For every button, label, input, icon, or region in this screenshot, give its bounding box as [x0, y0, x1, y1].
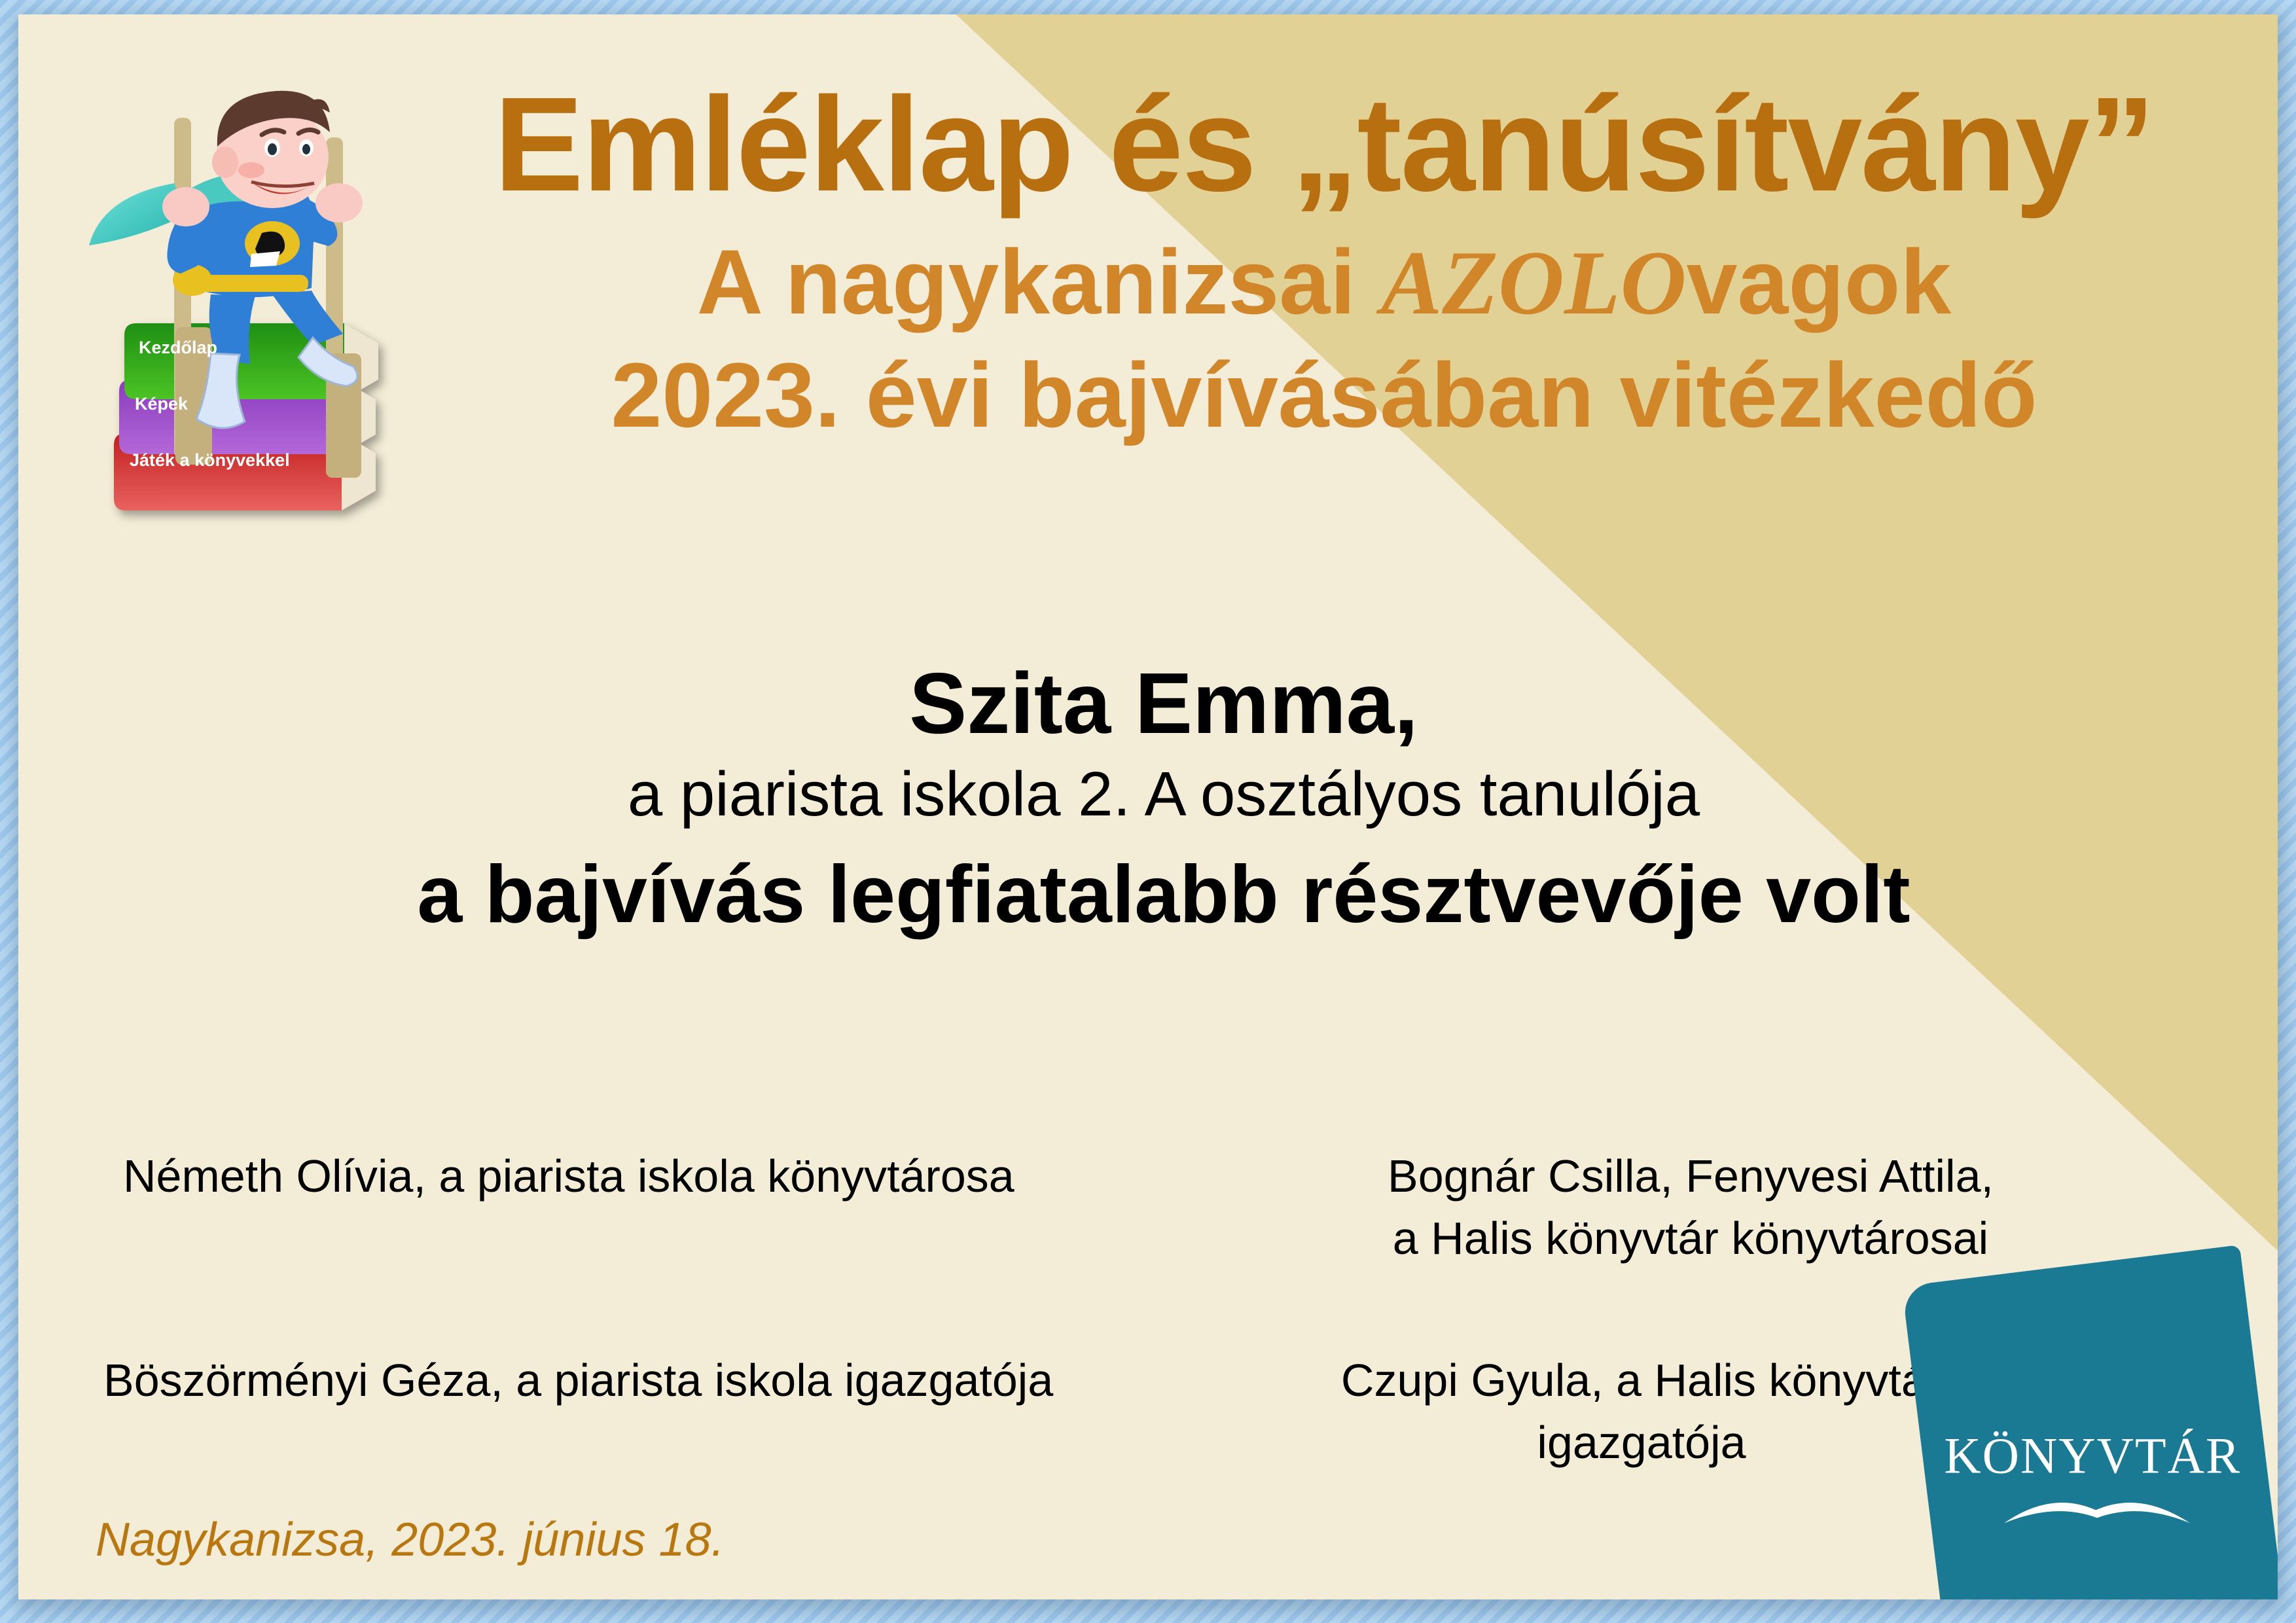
- library-logo-badge: KÖNYVTÁR: [1902, 1245, 2278, 1599]
- subtitle-line-2: 2023. évi bajvívásában vitézkedő: [385, 347, 2263, 443]
- signature-librarian-school: Németh Olívia, a piarista iskola könyvtá…: [123, 1145, 1039, 1207]
- book-label-kepek: Képek: [135, 394, 188, 414]
- signature-halis-librarians: Bognár Csilla, Fenyvesi Attila, a Halis …: [1298, 1145, 2083, 1269]
- book-label-kezdolap: Kezdőlap: [139, 338, 217, 357]
- subtitle-line-1: A nagykanizsai AZOLOvagok: [385, 234, 2263, 331]
- open-book-icon: [1999, 1485, 2195, 1532]
- certificate-page: Kezdőlap Képek Játék a könyvekkel Emlékl…: [0, 0, 2296, 1623]
- brand-name-azolo: AZOLO: [1381, 232, 1687, 334]
- page-title: Emléklap és „tanúsítvány”: [385, 77, 2263, 211]
- certificate-card: Kezdőlap Képek Játék a könyvekkel Emlékl…: [18, 14, 2278, 1599]
- library-logo-text: KÖNYVTÁR: [1927, 1430, 2267, 1481]
- library-logo-content: KÖNYVTÁR: [1927, 1430, 2267, 1532]
- book-label-jatek: Játék a könyvekkel: [130, 450, 290, 470]
- signature-halis-director: Czupi Gyula, a Halis könyvtár igazgatója: [1298, 1349, 1985, 1473]
- signature-halis-librarians-line2: a Halis könyvtár könyvtárosai: [1298, 1207, 2083, 1270]
- signature-principal-school: Böszörményi Géza, a piarista iskola igaz…: [103, 1349, 1085, 1412]
- subtitle-suffix: vagok: [1687, 230, 1952, 333]
- subtitle-prefix: A nagykanizsai: [697, 230, 1381, 333]
- signature-halis-director-line1: Czupi Gyula, a Halis könyvtár: [1298, 1349, 1985, 1412]
- title-block: Emléklap és „tanúsítvány” A nagykanizsai…: [385, 77, 2263, 443]
- signature-halis-director-line2: igazgatója: [1298, 1412, 1985, 1474]
- signature-halis-librarians-line1: Bognár Csilla, Fenyvesi Attila,: [1298, 1145, 2083, 1207]
- recipient-school: a piarista iskola 2. A osztályos tanulój…: [215, 758, 2113, 830]
- recipient-name: Szita Emma,: [215, 656, 2113, 751]
- recipient-block: Szita Emma, a piarista iskola 2. A osztá…: [215, 656, 2113, 941]
- date-and-place: Nagykanizsa, 2023. június 18.: [96, 1513, 725, 1567]
- recipient-achievement: a bajvívás legfiatalabb résztvevője volt: [215, 848, 2113, 942]
